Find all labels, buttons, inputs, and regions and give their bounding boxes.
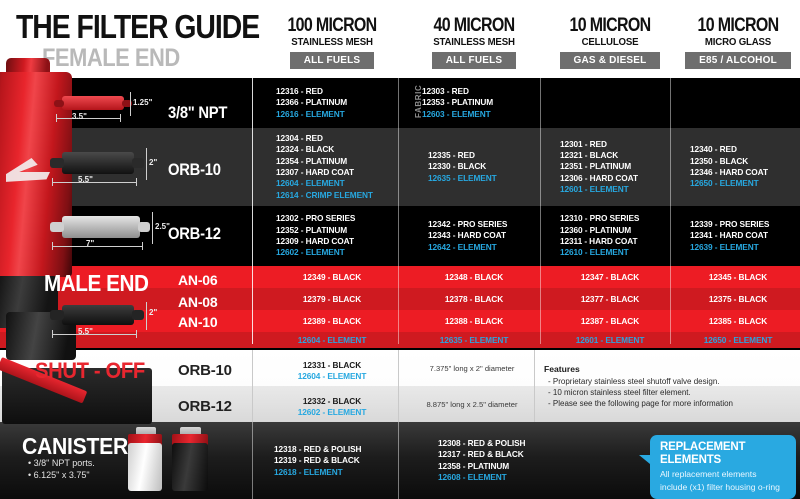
dim-label-npt-length: 3.5" xyxy=(72,112,87,121)
row-label-shutoff-orb12: ORB-12 xyxy=(178,398,232,415)
callout-title: REPLACEMENT ELEMENTS xyxy=(660,441,787,467)
shutoff-part-orb12: 12332 - BLACK12602 - ELEMENT xyxy=(262,396,402,419)
cell-part-list: 12347 - BLACK xyxy=(546,272,674,283)
part-number: 12304 - RED xyxy=(276,133,373,144)
part-number: 12346 - HARD COAT xyxy=(690,167,768,178)
part-number: 12387 - BLACK xyxy=(546,316,674,327)
row-label-orb12: ORB-12 xyxy=(168,224,221,244)
part-number: 12353 - PLATINUM xyxy=(422,97,493,108)
shutoff-dimension-orb12: 8.875" long x 2.5" diameter xyxy=(404,400,540,409)
part-number: 12332 - BLACK xyxy=(262,396,402,407)
cell-part-list: 12377 - BLACK xyxy=(546,294,674,305)
section-title-shutoff: SHUT - OFF xyxy=(35,358,145,384)
part-number: 12650 - ELEMENT xyxy=(676,335,800,346)
cell-part-list: 12335 - RED12330 - BLACK12635 - ELEMENT xyxy=(428,150,497,184)
dim-cap-male-l1 xyxy=(52,330,53,338)
dim-label-male-length: 5.5" xyxy=(78,327,93,336)
dim-label-npt-diameter: 1.25" xyxy=(133,98,152,107)
part-number: 12650 - ELEMENT xyxy=(690,178,768,189)
column-header-10-micron-cellulose: 10 MICRON CELLULOSE GAS & DIESEL xyxy=(546,16,674,69)
column-media: STAINLESS MESH xyxy=(410,35,539,49)
part-number: 12602 - ELEMENT xyxy=(276,247,355,258)
shutoff-part-orb10: 12331 - BLACK12604 - ELEMENT xyxy=(262,360,402,383)
column-divider xyxy=(540,78,541,344)
dim-line-orb10-length xyxy=(52,182,136,183)
part-number: 12301 - RED xyxy=(560,139,638,150)
part-number: 12608 - ELEMENT xyxy=(438,472,525,483)
dim-line-npt-length xyxy=(56,118,120,119)
cell-part-list: 12316 - RED12366 - PLATINUM12616 - ELEME… xyxy=(276,86,347,120)
column-header-100-micron: 100 MICRON STAINLESS MESH ALL FUELS xyxy=(262,16,402,69)
dim-cap-orb10-l2 xyxy=(136,178,137,186)
part-number: 12616 - ELEMENT xyxy=(276,109,347,120)
column-divider xyxy=(252,78,253,344)
section-title-canister: CANISTER xyxy=(22,433,128,460)
feature-item-3: - Please see the following page for more… xyxy=(548,398,733,410)
part-number: 12639 - ELEMENT xyxy=(690,242,769,253)
part-number: 12360 - PLATINUM xyxy=(560,225,639,236)
cell-part-list: 12303 - RED12353 - PLATINUM12603 - ELEME… xyxy=(422,86,493,120)
part-number: 12343 - HARD COAT xyxy=(428,230,507,241)
cell-part-list: 12378 - BLACK xyxy=(404,294,544,305)
callout-line-2: include (x1) filter housing o-ring xyxy=(660,482,787,493)
column-fuel-badge: ALL FUELS xyxy=(432,52,517,69)
part-number: 12351 - PLATINUM xyxy=(560,161,638,172)
cell-part-list: 12339 - PRO SERIES12341 - HARD COAT12639… xyxy=(690,219,769,253)
part-number: 12311 - HARD COAT xyxy=(560,236,639,247)
cell-part-list: 12385 - BLACK xyxy=(676,316,800,327)
column-divider xyxy=(398,350,399,422)
part-number: 12379 - BLACK xyxy=(262,294,402,305)
dim-label-orb12-length: 7" xyxy=(86,239,94,248)
page-title: THE FILTER GUIDE xyxy=(16,8,259,46)
cell-element-number: 12635 - ELEMENT xyxy=(404,335,544,346)
canister-bullet-2: • 6.125" x 3.75" xyxy=(28,470,90,480)
part-number: 12375 - BLACK xyxy=(676,294,800,305)
part-number: 12341 - HARD COAT xyxy=(690,230,769,241)
part-number: 12642 - ELEMENT xyxy=(428,242,507,253)
part-number: 12389 - BLACK xyxy=(262,316,402,327)
column-fuel-badge: E85 / ALCOHOL xyxy=(685,52,791,69)
table-row-orb10 xyxy=(0,128,800,206)
part-number: 12317 - RED & BLACK xyxy=(438,449,525,460)
feature-item-1: - Proprietary stainless steel shutoff va… xyxy=(548,376,720,388)
part-number: 12614 - CRIMP ELEMENT xyxy=(276,190,373,201)
part-number: 12354 - PLATINUM xyxy=(276,156,373,167)
part-number: 12306 - HARD COAT xyxy=(560,173,638,184)
canister-parts-col1: 12318 - RED & POLISH12319 - RED & BLACK1… xyxy=(274,444,361,478)
dim-cap-npt-l1 xyxy=(56,114,57,122)
filter-guide-sheet: THE FILTER GUIDE FEMALE END 100 MICRON S… xyxy=(0,0,800,499)
cell-part-list: 12310 - PRO SERIES12360 - PLATINUM12311 … xyxy=(560,213,639,258)
column-header-10-micron-micro-glass: 10 MICRON MICRO GLASS E85 / ALCOHOL xyxy=(676,16,800,69)
cell-part-list: 12389 - BLACK xyxy=(262,316,402,327)
canister-parts-col3: 12308 - RED & POLISH12317 - RED & BLACK1… xyxy=(438,438,525,483)
dim-cap-orb12-l2 xyxy=(142,242,143,250)
part-number: 12377 - BLACK xyxy=(546,294,674,305)
part-number: 12349 - BLACK xyxy=(262,272,402,283)
part-number: 12366 - PLATINUM xyxy=(276,97,347,108)
dim-label-orb10-length: 5.5" xyxy=(78,175,93,184)
part-number: 12378 - BLACK xyxy=(404,294,544,305)
part-number: 12635 - ELEMENT xyxy=(404,335,544,346)
part-number: 12324 - BLACK xyxy=(276,144,373,155)
cell-part-list: 12379 - BLACK xyxy=(262,294,402,305)
column-divider xyxy=(534,350,535,422)
table-row-orb12 xyxy=(0,206,800,266)
features-heading: Features xyxy=(544,364,580,374)
cell-part-list: 12302 - PRO SERIES12352 - PLATINUM12309 … xyxy=(276,213,355,258)
row-label-npt: 3/8" NPT xyxy=(168,103,227,123)
part-number: 12321 - BLACK xyxy=(560,150,638,161)
part-number: 12385 - BLACK xyxy=(676,316,800,327)
part-number: 12604 - ELEMENT xyxy=(262,371,402,382)
cell-part-list: 12349 - BLACK xyxy=(262,272,402,283)
row-label-an10: AN-10 xyxy=(178,314,217,330)
cell-element-number: 12604 - ELEMENT xyxy=(262,335,402,346)
cell-part-list: 12342 - PRO SERIES12343 - HARD COAT12642… xyxy=(428,219,507,253)
part-number: 12352 - PLATINUM xyxy=(276,225,355,236)
column-fuel-badge: ALL FUELS xyxy=(290,52,375,69)
part-number: 12604 - ELEMENT xyxy=(262,335,402,346)
part-number: 12347 - BLACK xyxy=(546,272,674,283)
section-title-female-end: FEMALE END xyxy=(42,44,180,73)
part-number: 12618 - ELEMENT xyxy=(274,467,361,478)
part-number: 12309 - HARD COAT xyxy=(276,236,355,247)
part-number: 12308 - RED & POLISH xyxy=(438,438,525,449)
part-number: 12388 - BLACK xyxy=(404,316,544,327)
row-label-an06: AN-06 xyxy=(178,272,217,288)
cell-part-list: 12348 - BLACK xyxy=(404,272,544,283)
cell-part-list: 12387 - BLACK xyxy=(546,316,674,327)
column-micron: 10 MICRON xyxy=(686,16,790,35)
part-number: 12318 - RED & POLISH xyxy=(274,444,361,455)
part-number: 12610 - ELEMENT xyxy=(560,247,639,258)
part-number: 12348 - BLACK xyxy=(404,272,544,283)
part-number: 12601 - ELEMENT xyxy=(546,335,674,346)
dim-cap-orb10-l1 xyxy=(52,178,53,186)
part-number: 12330 - BLACK xyxy=(428,161,497,172)
part-number: 12340 - RED xyxy=(690,144,768,155)
column-divider xyxy=(252,422,253,499)
cell-part-list: 12304 - RED12324 - BLACK12354 - PLATINUM… xyxy=(276,133,373,201)
dim-label-male-diameter: 2" xyxy=(149,308,157,317)
dim-cap-male-l2 xyxy=(136,330,137,338)
column-divider xyxy=(252,350,253,422)
dim-cap-npt-d xyxy=(130,92,131,116)
column-media: STAINLESS MESH xyxy=(268,35,397,49)
row-label-an08: AN-08 xyxy=(178,294,217,310)
cell-part-list: 12388 - BLACK xyxy=(404,316,544,327)
dim-cap-male-d xyxy=(146,302,147,330)
part-number: 12303 - RED xyxy=(422,86,493,97)
shutoff-dimension-orb10: 7.375" long x 2" diameter xyxy=(404,364,540,373)
cell-element-number: 12650 - ELEMENT xyxy=(676,335,800,346)
callout-line-1: All replacement elements xyxy=(660,469,787,480)
dim-cap-orb12-l1 xyxy=(52,242,53,250)
callout-tail-icon xyxy=(639,455,650,464)
part-number: 12601 - ELEMENT xyxy=(560,184,638,195)
part-number: 12603 - ELEMENT xyxy=(422,109,493,120)
cell-part-list: 12345 - BLACK xyxy=(676,272,800,283)
part-number: 12358 - PLATINUM xyxy=(438,461,525,472)
column-divider xyxy=(670,78,671,344)
part-number: 12331 - BLACK xyxy=(262,360,402,371)
canister-bullet-1: • 3/8" NPT ports. xyxy=(28,458,95,468)
column-divider xyxy=(398,78,399,344)
dim-cap-orb12-d xyxy=(152,212,153,244)
part-number: 12350 - BLACK xyxy=(690,156,768,167)
column-micron: 10 MICRON xyxy=(556,16,664,35)
part-number: 12345 - BLACK xyxy=(676,272,800,283)
dim-line-orb12-length xyxy=(52,246,142,247)
part-number: 12635 - ELEMENT xyxy=(428,173,497,184)
cell-element-number: 12601 - ELEMENT xyxy=(546,335,674,346)
cell-part-list: 12375 - BLACK xyxy=(676,294,800,305)
feature-item-2: - 10 micron stainless steel filter eleme… xyxy=(548,387,691,399)
dim-cap-orb10-d xyxy=(146,148,147,180)
column-media: CELLULOSE xyxy=(551,35,669,49)
column-fuel-badge: GAS & DIESEL xyxy=(560,52,661,69)
column-micron: 40 MICRON xyxy=(415,16,533,35)
dim-line-male-length xyxy=(52,334,136,335)
dim-label-orb10-diameter: 2" xyxy=(149,158,157,167)
part-number: 12310 - PRO SERIES xyxy=(560,213,639,224)
part-number: 12339 - PRO SERIES xyxy=(690,219,769,230)
dim-cap-npt-l2 xyxy=(120,114,121,122)
part-number: 12307 - HARD COAT xyxy=(276,167,373,178)
column-media: MICRO GLASS xyxy=(681,35,795,49)
part-number: 12604 - ELEMENT xyxy=(276,178,373,189)
part-number: 12342 - PRO SERIES xyxy=(428,219,507,230)
cell-part-list: 12301 - RED12321 - BLACK12351 - PLATINUM… xyxy=(560,139,638,195)
header: THE FILTER GUIDE FEMALE END 100 MICRON S… xyxy=(0,0,800,78)
column-micron: 100 MICRON xyxy=(273,16,391,35)
row-label-shutoff-orb10: ORB-10 xyxy=(178,362,232,379)
part-number: 12302 - PRO SERIES xyxy=(276,213,355,224)
cell-part-list: 12340 - RED12350 - BLACK12346 - HARD COA… xyxy=(690,144,768,189)
column-header-40-micron: 40 MICRON STAINLESS MESH ALL FUELS xyxy=(404,16,544,69)
row-label-orb10: ORB-10 xyxy=(168,160,221,180)
part-number: 12335 - RED xyxy=(428,150,497,161)
column-divider xyxy=(398,422,399,499)
part-number: 12602 - ELEMENT xyxy=(262,407,402,418)
part-number: 12319 - RED & BLACK xyxy=(274,455,361,466)
part-number: 12316 - RED xyxy=(276,86,347,97)
section-title-male-end: MALE END xyxy=(44,270,149,297)
replacement-elements-callout: REPLACEMENT ELEMENTS All replacement ele… xyxy=(650,435,796,499)
